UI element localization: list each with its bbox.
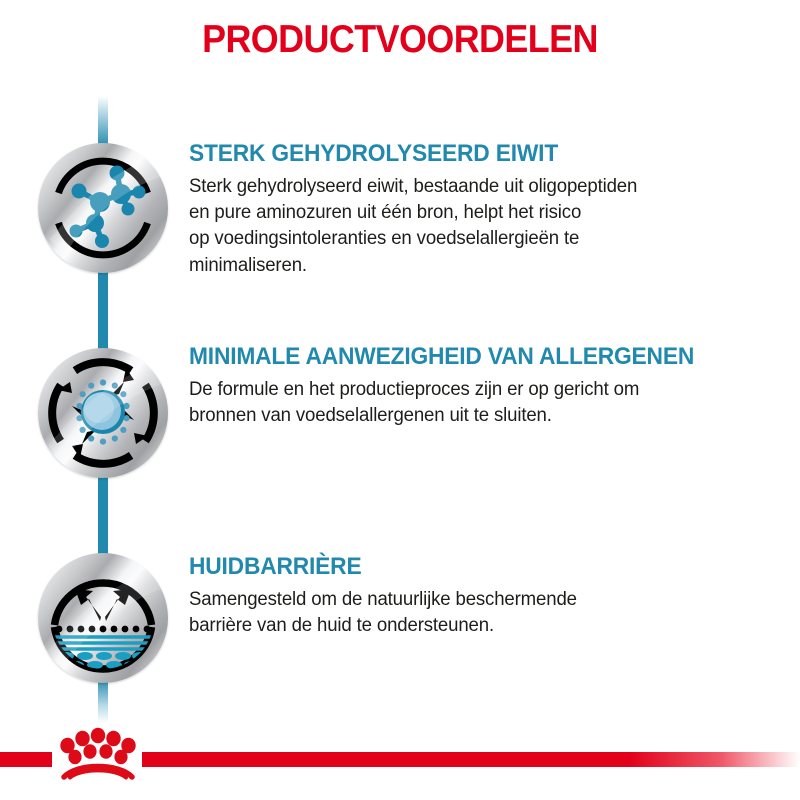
footer-bar-left — [0, 752, 52, 767]
connector-line-between-1-2 — [98, 268, 108, 354]
connector-line-between-2-3 — [98, 473, 108, 559]
benefit-block-1: STERK GEHYDROLYSEERD EIWIT Sterk gehydro… — [189, 141, 789, 279]
benefit-body-1-line-1: Sterk gehydrolyseerd eiwit, bestaande ui… — [189, 174, 768, 200]
benefit-body-3-line-1: Samengesteld om de natuurlijke bescherme… — [189, 587, 768, 613]
benefit-heading-3: HUIDBARRIÈRE — [189, 554, 747, 580]
benefit-block-2: MINIMALE AANWEZIGHEID VAN ALLERGENEN De … — [189, 344, 789, 429]
benefit-body-1-line-2: en pure aminozuren uit één bron, helpt h… — [189, 200, 768, 226]
royal-canin-crown-logo — [53, 725, 143, 781]
footer-bar-right — [142, 752, 800, 767]
benefit-body-2-line-2: bronnen van voedselallergenen uit te slu… — [189, 403, 768, 429]
benefit-body-2-line-1: De formule en het productieproces zijn e… — [189, 377, 768, 403]
benefit-heading-2: MINIMALE AANWEZIGHEID VAN ALLERGENEN — [189, 344, 747, 370]
allergen-dispersion-icon — [38, 348, 168, 478]
benefit-block-3: HUIDBARRIÈRE Samengesteld om de natuurli… — [189, 554, 789, 639]
skin-barrier-icon — [38, 553, 168, 683]
molecule-icon — [38, 143, 168, 273]
benefit-body-3: Samengesteld om de natuurlijke bescherme… — [189, 587, 768, 639]
connector-line-bottom — [98, 678, 108, 723]
benefit-icon-2-medallion — [38, 348, 168, 478]
product-benefits-page: PRODUCTVOORDELEN — [0, 0, 800, 800]
benefit-body-2: De formule en het productieproces zijn e… — [189, 377, 768, 429]
benefit-icon-3-medallion — [38, 553, 168, 683]
benefit-heading-1: STERK GEHYDROLYSEERD EIWIT — [189, 141, 747, 167]
page-title: PRODUCTVOORDELEN — [32, 18, 768, 62]
crown-icon — [53, 725, 143, 781]
benefit-icon-1-medallion — [38, 143, 168, 273]
benefit-body-1-line-3: op voedingsintoleranties en voedselaller… — [189, 226, 768, 252]
connector-line-top — [98, 96, 108, 148]
benefit-body-1-line-4: minimaliseren. — [189, 253, 768, 279]
benefit-body-1: Sterk gehydrolyseerd eiwit, bestaande ui… — [189, 174, 768, 279]
benefit-body-3-line-2: barrière van de huid te ondersteunen. — [189, 613, 768, 639]
